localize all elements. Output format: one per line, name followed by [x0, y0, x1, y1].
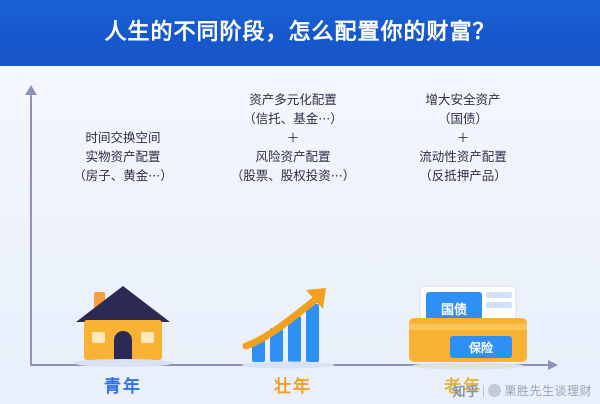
- stage-label-prime: 壮年: [208, 372, 378, 397]
- x-axis-arrow-icon: [548, 360, 558, 370]
- stage-2-caption: 资产多元化配置 （信托、基金···） ＋ 风险资产配置 （股票、股权投资···）: [208, 90, 378, 185]
- author-name: 栗胜先生谈理财: [504, 382, 592, 399]
- growth-bar-chart-icon: [228, 278, 358, 370]
- diagram-panel: 时间交换空间 实物资产配置 （房子、黄金···） 青年 资产多: [0, 66, 600, 404]
- watermark: 知乎 栗胜先生谈理财: [452, 381, 592, 400]
- stage-label-youth: 青年: [38, 372, 208, 397]
- stage-column-3: 增大安全资产 （国债） ＋ 流动性资产配置 （反抵押产品）: [378, 90, 548, 185]
- zhihu-logo: 知乎: [452, 381, 479, 400]
- stage-3-caption: 增大安全资产 （国债） ＋ 流动性资产配置 （反抵押产品）: [378, 90, 548, 185]
- house-icon: [58, 278, 188, 370]
- infographic-page: 人生的不同阶段，怎么配置你的财富？ 时间交换空间 实物资产配置 （房子、黄金··…: [0, 0, 600, 404]
- stage-column-2: 资产多元化配置 （信托、基金···） ＋ 风险资产配置 （股票、股权投资···）: [208, 90, 378, 185]
- y-axis-line: [30, 94, 32, 366]
- header-banner: 人生的不同阶段，怎么配置你的财富？: [0, 0, 600, 66]
- footer-divider: [483, 385, 484, 397]
- stage-1-caption: 时间交换空间 实物资产配置 （房子、黄金···）: [38, 90, 208, 185]
- svg-text:国债: 国债: [441, 302, 467, 318]
- page-title: 人生的不同阶段，怎么配置你的财富？: [104, 22, 495, 44]
- wallet-icon: 国债 保险: [398, 278, 538, 370]
- y-axis-arrow-icon: [25, 85, 37, 95]
- avatar: [488, 384, 501, 397]
- svg-text:保险: 保险: [468, 340, 494, 355]
- stage-column-1: 时间交换空间 实物资产配置 （房子、黄金···）: [38, 90, 208, 185]
- author-credit: 栗胜先生谈理财: [488, 382, 592, 399]
